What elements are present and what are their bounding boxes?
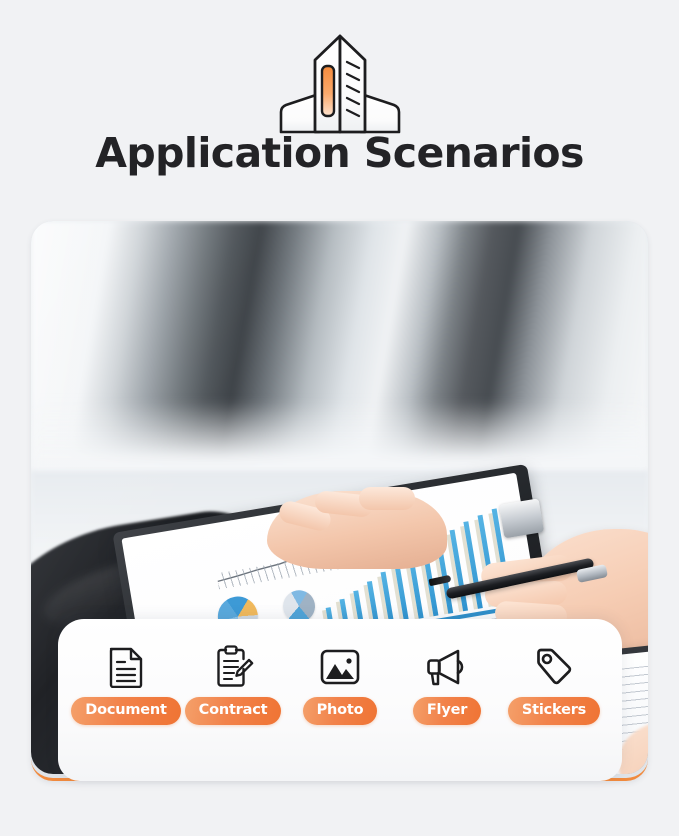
page-title-row: Application Scenarios <box>0 128 679 178</box>
badge-label-flyer[interactable]: Flyer <box>413 697 481 725</box>
clipboard-pen-icon <box>211 645 255 689</box>
scenario-badge-panel: Document Contract <box>58 619 622 781</box>
page-header: Application Scenarios <box>0 0 679 210</box>
scenario-item-stickers[interactable]: Stickers <box>504 645 604 725</box>
scenario-item-photo[interactable]: Photo <box>290 645 390 725</box>
scenario-badge-row: Document Contract <box>76 645 604 725</box>
finger <box>359 487 415 510</box>
badge-label-photo[interactable]: Photo <box>303 697 378 725</box>
badge-label-contract[interactable]: Contract <box>185 697 282 725</box>
hand-holding-clipboard <box>267 469 467 579</box>
badge-label-document[interactable]: Document <box>71 697 181 725</box>
building-icon <box>275 32 405 134</box>
image-icon <box>318 645 362 689</box>
scenario-item-contract[interactable]: Contract <box>183 645 283 725</box>
page-title: Application Scenarios <box>95 128 584 178</box>
scenario-item-document[interactable]: Document <box>76 645 176 725</box>
tag-icon <box>532 645 576 689</box>
scenario-item-flyer[interactable]: Flyer <box>397 645 497 725</box>
megaphone-icon <box>425 645 469 689</box>
document-icon <box>104 645 148 689</box>
badge-label-stickers[interactable]: Stickers <box>508 697 600 725</box>
building-logo <box>275 32 405 134</box>
